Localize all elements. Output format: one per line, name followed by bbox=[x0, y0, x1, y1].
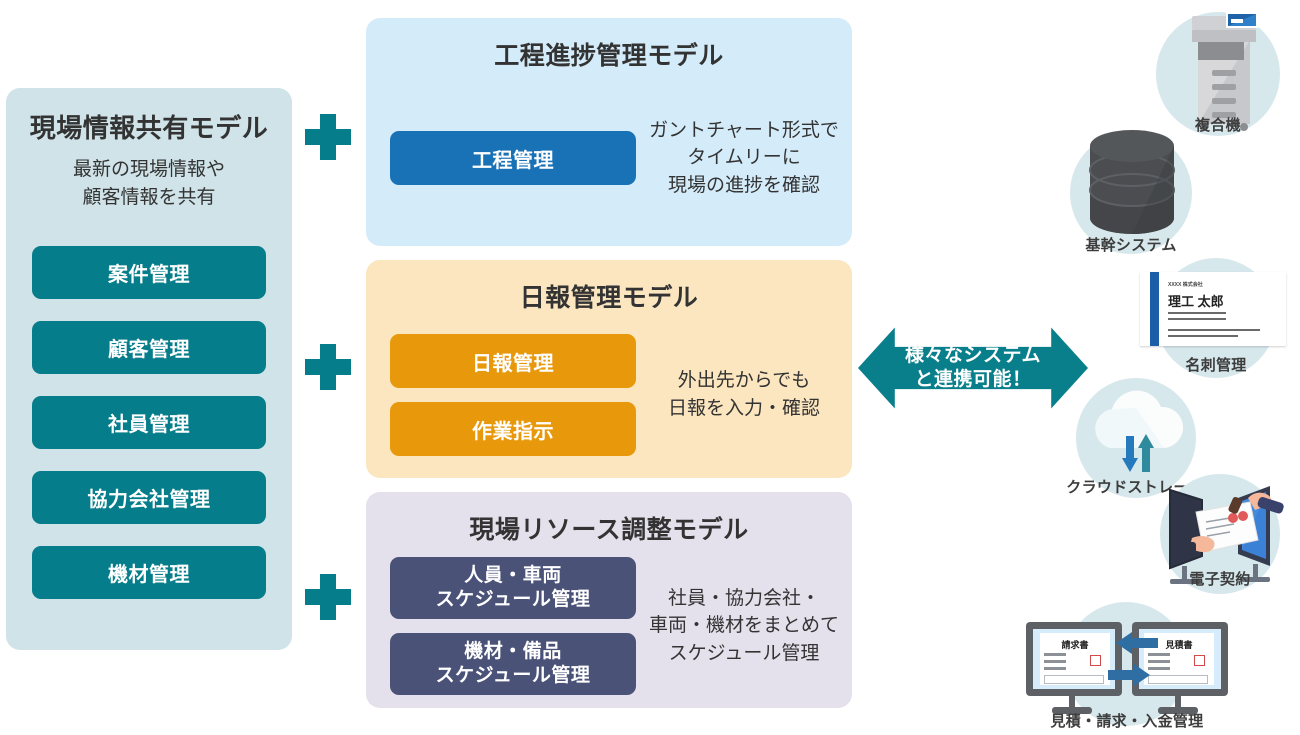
desc-line1: 外出先からでも bbox=[642, 367, 846, 395]
panel-process-title: 工程進捗管理モデル bbox=[366, 36, 852, 72]
plus-icon bbox=[305, 114, 351, 160]
panel-daily-report-title: 日報管理モデル bbox=[366, 278, 852, 314]
label-line1: 人員・車両 bbox=[464, 565, 562, 586]
button-project-management[interactable]: 案件管理 bbox=[32, 246, 266, 299]
panel-resource-button-list: 人員・車両 スケジュール管理 機材・備品 スケジュール管理 bbox=[390, 557, 636, 695]
panel-resource-description: 社員・協力会社・ 車両・機材をまとめて スケジュール管理 bbox=[636, 585, 852, 668]
panel-process-button-list: 工程管理 bbox=[390, 131, 636, 185]
connector-double-arrow: 様々なシステム と連携可能！ bbox=[858, 324, 1088, 412]
document-title-invoice: 請求書 bbox=[1040, 638, 1110, 651]
exchange-arrows-icon bbox=[1102, 630, 1164, 692]
desc-line3: 現場の進捗を確認 bbox=[642, 172, 846, 200]
card-company: XXXX 株式会社 bbox=[1168, 281, 1203, 288]
button-employee-management[interactable]: 社員管理 bbox=[32, 396, 266, 449]
label-invoice-management: 見積・請求・入金管理 bbox=[1008, 710, 1246, 731]
card-name: 理工 太郎 bbox=[1168, 291, 1224, 310]
doc-box bbox=[1044, 675, 1104, 684]
plus-icon bbox=[305, 574, 351, 620]
card-line bbox=[1168, 335, 1238, 337]
left-panel-subtitle-line2: 顧客情報を共有 bbox=[6, 184, 292, 212]
doc-line bbox=[1044, 667, 1066, 670]
button-label-line-stack: 機材・備品 スケジュール管理 bbox=[436, 640, 591, 688]
button-label-line-stack: 人員・車両 スケジュール管理 bbox=[436, 564, 591, 612]
system-node-electronic-contract: 電子契約 bbox=[1156, 474, 1284, 596]
system-node-business-card: XXXX 株式会社 理工 太郎 名刺管理 bbox=[1140, 258, 1290, 378]
left-panel-title: 現場情報共有モデル bbox=[6, 108, 292, 145]
label-business-card: 名刺管理 bbox=[1156, 354, 1276, 375]
business-card-icon: XXXX 株式会社 理工 太郎 bbox=[1140, 272, 1286, 346]
label-core-system: 基幹システム bbox=[1064, 234, 1198, 255]
desc-line3: スケジュール管理 bbox=[642, 640, 846, 668]
plus-icon bbox=[305, 344, 351, 390]
doc-stamp bbox=[1194, 655, 1205, 666]
doc-line bbox=[1044, 660, 1066, 663]
connector-label-line1: 様々なシステム bbox=[905, 344, 1041, 368]
panel-resource-adjustment-model: 現場リソース調整モデル 人員・車両 スケジュール管理 機材・備品 スケジュール管… bbox=[366, 492, 852, 708]
doc-line bbox=[1044, 653, 1066, 656]
button-equipment-management[interactable]: 機材管理 bbox=[32, 546, 266, 599]
doc-stamp bbox=[1090, 655, 1101, 666]
left-panel-subtitle: 最新の現場情報や 顧客情報を共有 bbox=[6, 156, 292, 211]
button-daily-report-management[interactable]: 日報管理 bbox=[390, 334, 636, 388]
desc-line2: 車両・機材をまとめて bbox=[642, 612, 846, 640]
system-node-invoice-management: 請求書 見積書 bbox=[1016, 602, 1238, 730]
card-line bbox=[1168, 312, 1226, 314]
button-partner-company-management[interactable]: 協力会社管理 bbox=[32, 471, 266, 524]
button-customer-management[interactable]: 顧客管理 bbox=[32, 321, 266, 374]
button-work-instruction[interactable]: 作業指示 bbox=[390, 402, 636, 456]
label-line1: 機材・備品 bbox=[464, 641, 562, 662]
connector-label: 様々なシステム と連携可能！ bbox=[858, 324, 1088, 412]
connector-label-line2: と連携可能！ bbox=[914, 368, 1031, 392]
diagram-canvas: 現場情報共有モデル 最新の現場情報や 顧客情報を共有 案件管理 顧客管理 社員管… bbox=[0, 0, 1300, 735]
desc-line2: 日報を入力・確認 bbox=[642, 395, 846, 423]
button-personnel-vehicle-schedule[interactable]: 人員・車両 スケジュール管理 bbox=[390, 557, 636, 619]
left-panel-subtitle-line1: 最新の現場情報や bbox=[6, 156, 292, 184]
label-line2: スケジュール管理 bbox=[436, 665, 591, 686]
card-line bbox=[1168, 329, 1260, 331]
button-equipment-supplies-schedule[interactable]: 機材・備品 スケジュール管理 bbox=[390, 633, 636, 695]
label-line2: スケジュール管理 bbox=[436, 589, 591, 610]
database-icon bbox=[1084, 130, 1180, 238]
left-panel-button-list: 案件管理 顧客管理 社員管理 協力会社管理 機材管理 bbox=[32, 246, 266, 621]
label-electronic-contract: 電子契約 bbox=[1160, 568, 1280, 589]
desc-line1: ガントチャート形式で bbox=[642, 117, 846, 145]
button-process-management[interactable]: 工程管理 bbox=[390, 131, 636, 185]
desc-line2: タイムリーに bbox=[642, 144, 846, 172]
system-node-core-system: 基幹システム bbox=[1070, 130, 1198, 262]
panel-process-description: ガントチャート形式で タイムリーに 現場の進捗を確認 bbox=[636, 117, 852, 200]
card-accent-bar bbox=[1150, 272, 1159, 346]
document-invoice: 請求書 bbox=[1040, 633, 1110, 685]
panel-daily-report-button-list: 日報管理 作業指示 bbox=[390, 334, 636, 456]
card-line bbox=[1168, 318, 1226, 320]
desc-line1: 社員・協力会社・ bbox=[642, 585, 846, 613]
cloud-sync-icon bbox=[1084, 386, 1188, 478]
panel-daily-report-description: 外出先からでも 日報を入力・確認 bbox=[636, 367, 852, 422]
panel-resource-title: 現場リソース調整モデル bbox=[366, 510, 852, 546]
panel-daily-report-model: 日報管理モデル 日報管理 作業指示 外出先からでも 日報を入力・確認 bbox=[366, 260, 852, 478]
panel-field-info-sharing-model: 現場情報共有モデル 最新の現場情報や 顧客情報を共有 案件管理 顧客管理 社員管… bbox=[6, 88, 292, 650]
panel-process-progress-model: 工程進捗管理モデル 工程管理 ガントチャート形式で タイムリーに 現場の進捗を確… bbox=[366, 18, 852, 246]
